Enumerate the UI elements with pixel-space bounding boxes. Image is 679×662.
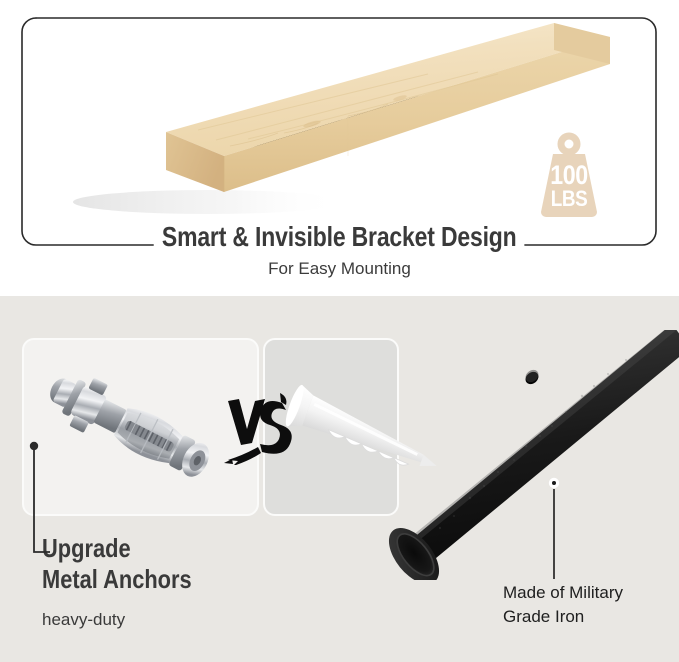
weight-capacity-badge: 100 LBS: [531, 132, 607, 220]
callout-title-line2: Metal Anchors: [42, 564, 192, 595]
versus-mark: [222, 385, 292, 465]
leader-line-iron-rod: [546, 475, 562, 585]
subheadline-text: For Easy Mounting: [0, 258, 679, 280]
weight-badge-number: 100: [536, 162, 601, 189]
callout-iron-rod: Made of Military Grade Iron: [503, 581, 623, 629]
callout-iron-rod-line2: Grade Iron: [503, 605, 623, 629]
callout-metal-anchors-subtitle: heavy-duty: [42, 609, 125, 630]
weight-badge-unit: LBS: [536, 188, 601, 210]
military-grade-iron-rod: [380, 330, 679, 580]
top-feature-panel: 100 LBS Smart & Invisible Bracket Design…: [0, 0, 679, 296]
product-feature-infographic: 100 LBS Smart & Invisible Bracket Design…: [0, 0, 679, 662]
leader-line-metal-anchors: [28, 440, 68, 565]
callout-iron-rod-line1: Made of Military: [503, 583, 623, 602]
